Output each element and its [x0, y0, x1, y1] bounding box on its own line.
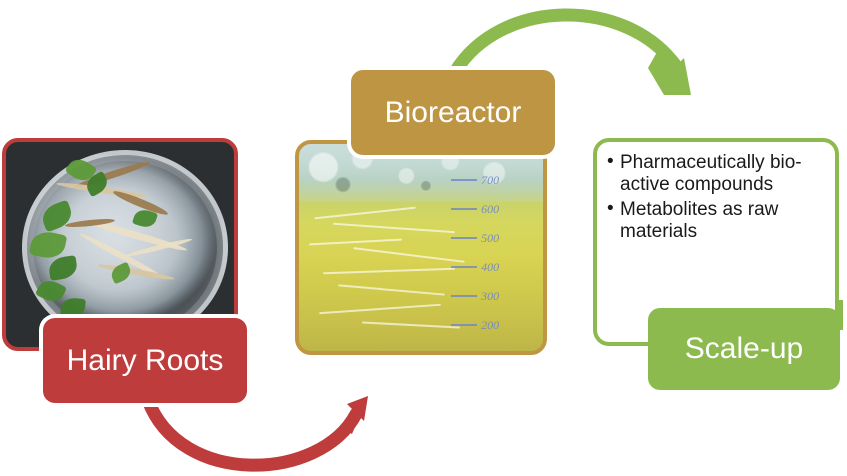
graduation-400: 400 — [451, 260, 499, 275]
scale-up-label: Scale-up — [685, 332, 803, 366]
outcome-item: Pharmaceutically bio-active compounds — [607, 152, 827, 197]
bioreactor-label-chip[interactable]: Bioreactor — [351, 70, 555, 155]
graduation-700: 700 — [451, 173, 499, 188]
graduation-500: 500 — [451, 231, 499, 246]
diagram-canvas: UK 700 600 500 400 300 200 — [0, 0, 847, 476]
outcome-item: Metabolites as raw materials — [607, 199, 827, 244]
bioreactor-photo: 700 600 500 400 300 200 — [295, 140, 547, 355]
red-arrow-hairy-roots-to-bioreactor — [148, 396, 368, 465]
scale-up-label-chip[interactable]: Scale-up — [648, 308, 840, 390]
outcomes-list: Pharmaceutically bio-active compounds Me… — [607, 152, 827, 244]
graduation-200: 200 — [451, 318, 499, 333]
graduation-600: 600 — [451, 202, 499, 217]
graduation-300: 300 — [451, 289, 499, 304]
bioreactor-label: Bioreactor — [385, 96, 522, 130]
hairy-roots-label-chip[interactable]: Hairy Roots — [43, 318, 247, 403]
hairy-roots-label: Hairy Roots — [67, 344, 224, 378]
